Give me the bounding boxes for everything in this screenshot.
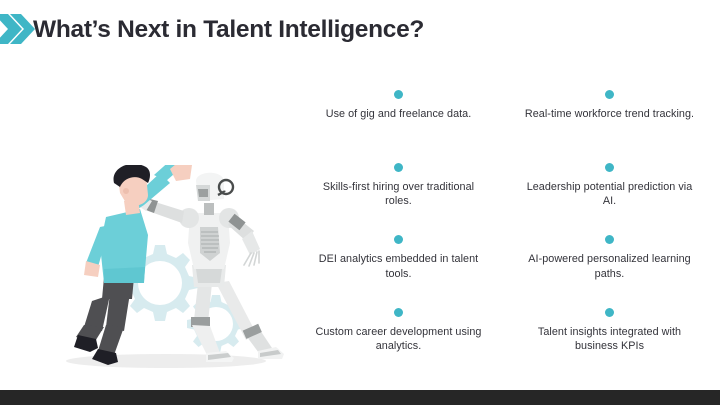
- bullet-dot-icon: [394, 90, 403, 99]
- page-title: What’s Next in Talent Intelligence?: [33, 13, 424, 47]
- list-item-label: Use of gig and freelance data.: [326, 107, 472, 122]
- key-points-grid: Use of gig and freelance data. Real-time…: [300, 88, 708, 378]
- list-item: DEI analytics embedded in talent tools.: [300, 233, 497, 306]
- list-item-label: Leadership potential prediction via AI.: [522, 180, 698, 209]
- bullet-dot-icon: [605, 235, 614, 244]
- double-chevron-right-icon: [0, 12, 36, 46]
- list-item-label: Skills-first hiring over traditional rol…: [311, 180, 487, 209]
- man-high-fiving-robot-illustration: [48, 165, 306, 370]
- list-item-label: DEI analytics embedded in talent tools.: [311, 252, 487, 281]
- bullet-dot-icon: [605, 308, 614, 317]
- list-item: Custom career development using analytic…: [300, 306, 497, 379]
- slide-footer-bar: [0, 390, 720, 405]
- bullet-dot-icon: [605, 90, 614, 99]
- list-item-label: AI-powered personalized learning paths.: [522, 252, 698, 281]
- bullet-dot-icon: [394, 308, 403, 317]
- list-item: Leadership potential prediction via AI.: [511, 161, 708, 234]
- slide-header: What’s Next in Talent Intelligence?: [0, 8, 720, 52]
- list-item: AI-powered personalized learning paths.: [511, 233, 708, 306]
- bullet-dot-icon: [394, 163, 403, 172]
- bullet-dot-icon: [394, 235, 403, 244]
- presentation-slide: What’s Next in Talent Intelligence?: [0, 0, 720, 405]
- list-item: Talent insights integrated with business…: [511, 306, 708, 379]
- list-item-label: Real-time workforce trend tracking.: [525, 107, 694, 122]
- bullet-dot-icon: [605, 163, 614, 172]
- list-item: Use of gig and freelance data.: [300, 88, 497, 161]
- list-item: Real-time workforce trend tracking.: [511, 88, 708, 161]
- list-item-label: Talent insights integrated with business…: [522, 325, 698, 354]
- list-item: Skills-first hiring over traditional rol…: [300, 161, 497, 234]
- list-item-label: Custom career development using analytic…: [311, 325, 487, 354]
